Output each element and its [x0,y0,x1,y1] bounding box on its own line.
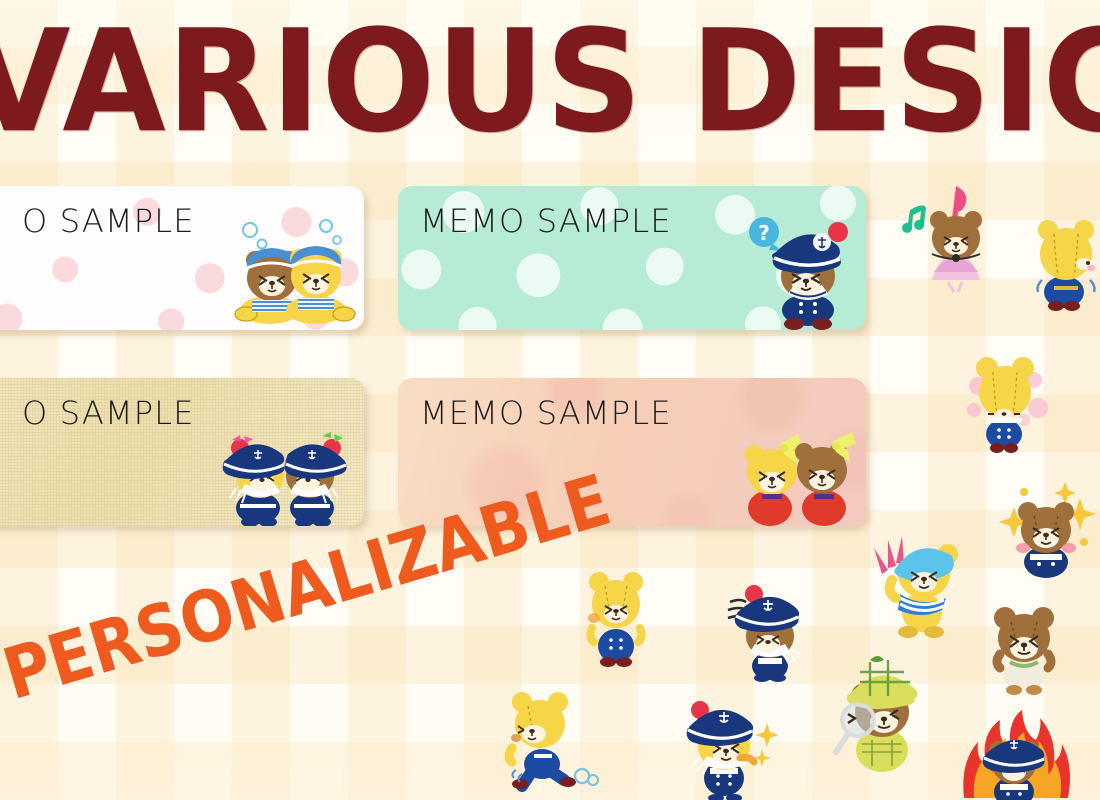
sailor-bear-with-question-bubble-icon: ? [746,206,862,330]
brown-bear-in-overalls-icon [984,594,1064,698]
svg-text:?: ? [758,221,770,245]
two-captain-bears-icon [210,404,360,526]
two-bears-with-ribbons-icon [728,404,862,526]
yellow-bear-standing-icon [580,566,652,670]
memo-card-label: MEMO SAMPLE [420,394,672,432]
captain-bear-brown-icon [722,576,808,682]
two-bears-in-bedtime-caps-icon [228,210,358,328]
memo-card-mint[interactable]: MEMO SAMPLE ? [398,186,866,330]
ballerina-bear-with-music-notes-icon [896,168,1014,294]
captain-bear-with-flames-icon [956,696,1066,800]
yellow-bear-in-blue-beanie-icon [866,528,976,640]
memo-card-pink[interactable]: O SAMPLE [0,186,364,330]
yellow-bear-back-view-icon [1026,206,1100,316]
brown-bear-with-sparkles-icon [996,476,1094,576]
detective-bear-with-magnifier-icon [826,654,932,772]
yellow-bear-with-pink-bubbles-icon [960,352,1052,462]
memo-card-label: MEMO SAMPLE [420,202,672,240]
memo-card-label: O SAMPLE [22,394,195,432]
poster-canvas: VARIOUS DESIGNS O SAMPLE [0,0,1100,800]
yellow-bear-walking-icon [498,682,602,790]
memo-card-beige[interactable]: O SAMPLE [0,378,364,526]
memo-card-label: O SAMPLE [22,202,195,240]
captain-bear-yellow-sparkles-icon [672,686,782,800]
page-title: VARIOUS DESIGNS [0,8,1100,156]
